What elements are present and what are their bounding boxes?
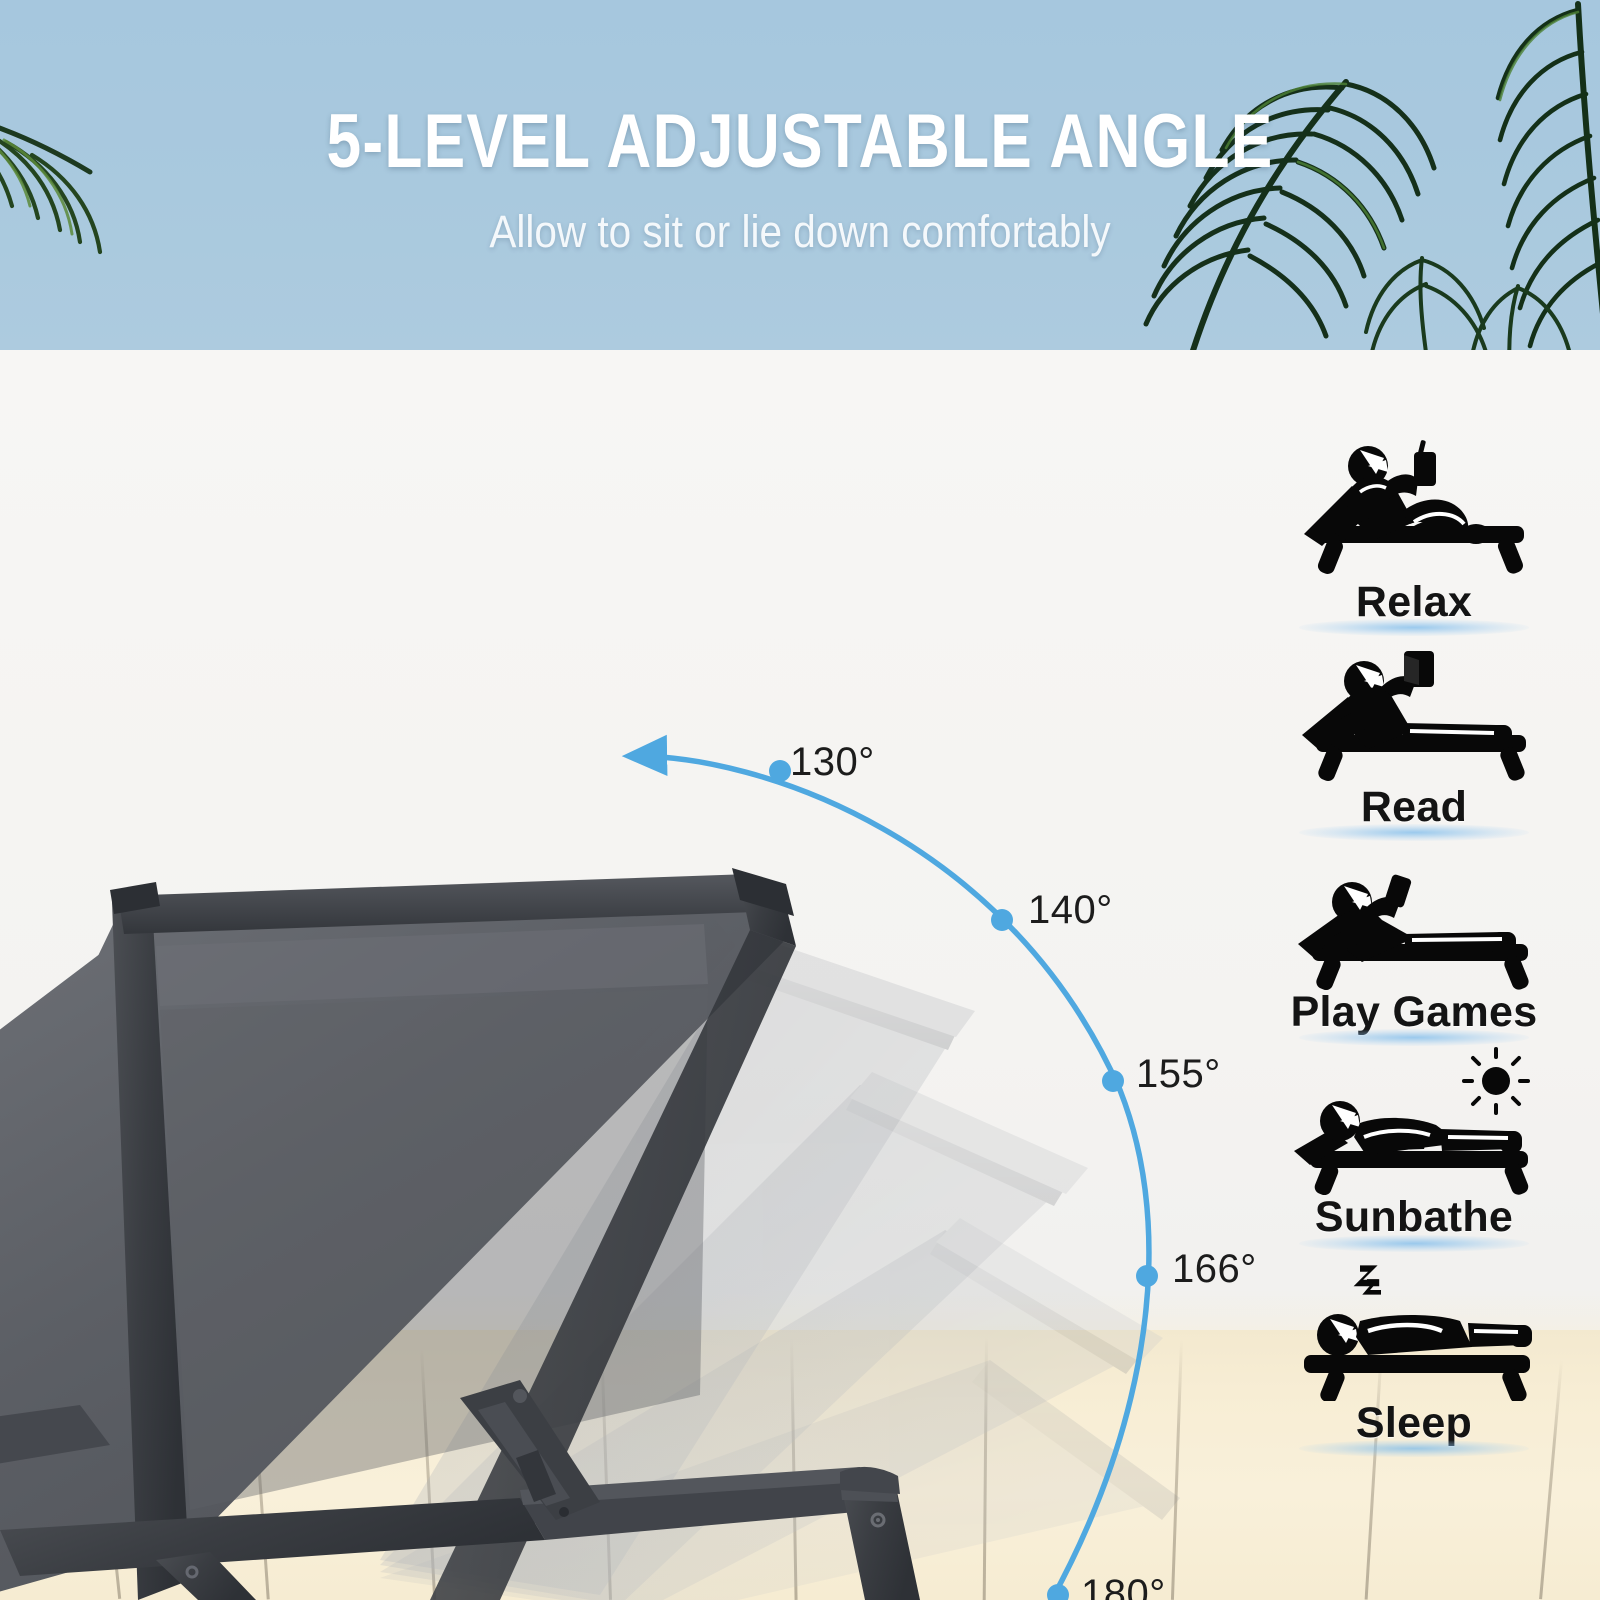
angle-label: 130° — [790, 740, 875, 785]
person-with-phone-on-lounger-icon — [1264, 840, 1564, 990]
angle-dot — [1047, 1584, 1069, 1600]
header-banner: 5-LEVEL ADJUSTABLE ANGLE Allow to sit or… — [0, 0, 1600, 350]
activity-item-play-games[interactable]: Play Games — [1264, 840, 1564, 1035]
page-subtitle: Allow to sit or lie down comfortably — [80, 206, 1520, 258]
person-reclining-with-drink-on-lounger-icon — [1264, 430, 1564, 580]
angle-label: 140° — [1028, 888, 1113, 933]
label-glow — [1299, 1440, 1529, 1457]
angle-label: 166° — [1172, 1247, 1257, 1292]
person-lying-flat-with-sun-icon — [1264, 1045, 1564, 1195]
activity-item-sleep[interactable]: Sleep — [1264, 1251, 1564, 1446]
infographic-canvas: 5-LEVEL ADJUSTABLE ANGLE Allow to sit or… — [0, 0, 1600, 1600]
angle-dot — [769, 760, 791, 782]
activity-item-read[interactable]: Read — [1264, 635, 1564, 830]
label-glow — [1299, 824, 1529, 841]
angle-label: 155° — [1136, 1052, 1221, 1097]
label-glow — [1299, 619, 1529, 636]
activity-icon-column: Relax — [1264, 430, 1564, 1456]
label-glow — [1299, 1235, 1529, 1252]
person-sleeping-zzz-on-lounger-icon — [1264, 1251, 1564, 1401]
person-reading-book-on-lounger-icon — [1264, 635, 1564, 785]
zzz-icon — [1354, 1265, 1381, 1294]
angle-dot — [1136, 1265, 1158, 1287]
sun-icon — [1464, 1049, 1528, 1113]
angle-dot — [991, 909, 1013, 931]
angle-label: 180° — [1081, 1572, 1166, 1600]
main-illustration-area: 130°140°155°166°180° — [0, 350, 1600, 1600]
angle-arc-path — [630, 756, 1149, 1600]
activity-item-relax[interactable]: Relax — [1264, 430, 1564, 625]
activity-item-sunbathe[interactable]: Sunbathe — [1264, 1045, 1564, 1240]
label-glow — [1299, 1029, 1529, 1046]
page-title: 5-LEVEL ADJUSTABLE ANGLE — [144, 104, 1456, 180]
angle-dot — [1102, 1070, 1124, 1092]
